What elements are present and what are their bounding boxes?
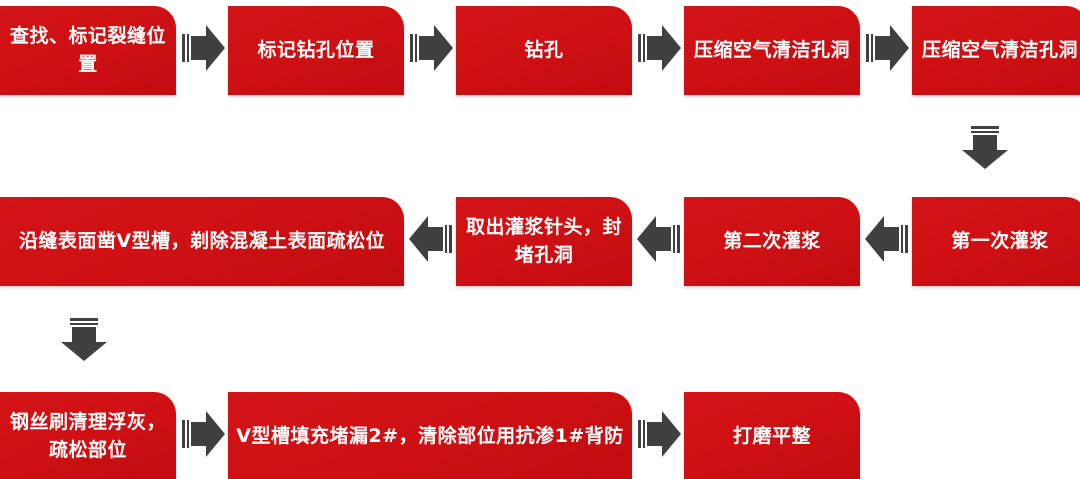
flowchart-canvas: 查找、标记裂缝位置 标记钻孔位置 钻孔 压缩空气清洁孔洞 xyxy=(0,0,1080,479)
process-node-second-grouting[interactable]: 第二次灌浆 xyxy=(684,197,860,286)
node-label: 沿缝表面凿V型槽，剃除混凝土表面疏松位 xyxy=(6,228,398,256)
node-label: 取出灌浆针头，封堵孔洞 xyxy=(462,214,626,269)
node-label: 查找、标记裂缝位置 xyxy=(6,23,170,78)
process-node-wire-brush-clean[interactable]: 钢丝刷清理浮灰，疏松部位 xyxy=(0,392,176,479)
node-label: 钢丝刷清理浮灰，疏松部位 xyxy=(6,409,170,464)
process-node-find-mark-crack[interactable]: 查找、标记裂缝位置 xyxy=(0,6,176,95)
node-label: 压缩空气清洁孔洞 xyxy=(918,37,1080,65)
arrow-down-icon xyxy=(58,318,110,362)
arrow-left-icon xyxy=(864,213,908,265)
node-label: 标记钻孔位置 xyxy=(234,37,398,65)
process-node-air-clean-holes-2[interactable]: 压缩空气清洁孔洞 xyxy=(912,6,1080,95)
node-label: 打磨平整 xyxy=(690,423,854,451)
arrow-right-icon xyxy=(638,22,682,74)
arrow-down-icon xyxy=(959,126,1011,170)
node-label: 第一次灌浆 xyxy=(918,228,1080,256)
arrow-right-icon xyxy=(866,22,910,74)
node-label: 压缩空气清洁孔洞 xyxy=(690,37,854,65)
arrow-right-icon xyxy=(410,22,454,74)
process-node-drilling[interactable]: 钻孔 xyxy=(456,6,632,95)
arrow-left-icon xyxy=(636,213,680,265)
arrow-right-icon xyxy=(182,408,226,460)
arrow-right-icon xyxy=(182,22,226,74)
process-node-remove-needle-seal[interactable]: 取出灌浆针头，封堵孔洞 xyxy=(456,197,632,286)
node-label: V型槽填充堵漏2#，清除部位用抗渗1#背防 xyxy=(234,423,626,451)
arrow-right-icon xyxy=(638,408,682,460)
node-label: 钻孔 xyxy=(462,37,626,65)
process-node-chisel-v-groove[interactable]: 沿缝表面凿V型槽，剃除混凝土表面疏松位 xyxy=(0,197,404,286)
process-node-grind-flat[interactable]: 打磨平整 xyxy=(684,392,860,479)
arrow-left-icon xyxy=(408,213,452,265)
process-node-first-grouting[interactable]: 第一次灌浆 xyxy=(912,197,1080,286)
process-node-fill-v-groove[interactable]: V型槽填充堵漏2#，清除部位用抗渗1#背防 xyxy=(228,392,632,479)
process-node-air-clean-holes-1[interactable]: 压缩空气清洁孔洞 xyxy=(684,6,860,95)
node-label: 第二次灌浆 xyxy=(690,228,854,256)
process-node-mark-drill-position[interactable]: 标记钻孔位置 xyxy=(228,6,404,95)
